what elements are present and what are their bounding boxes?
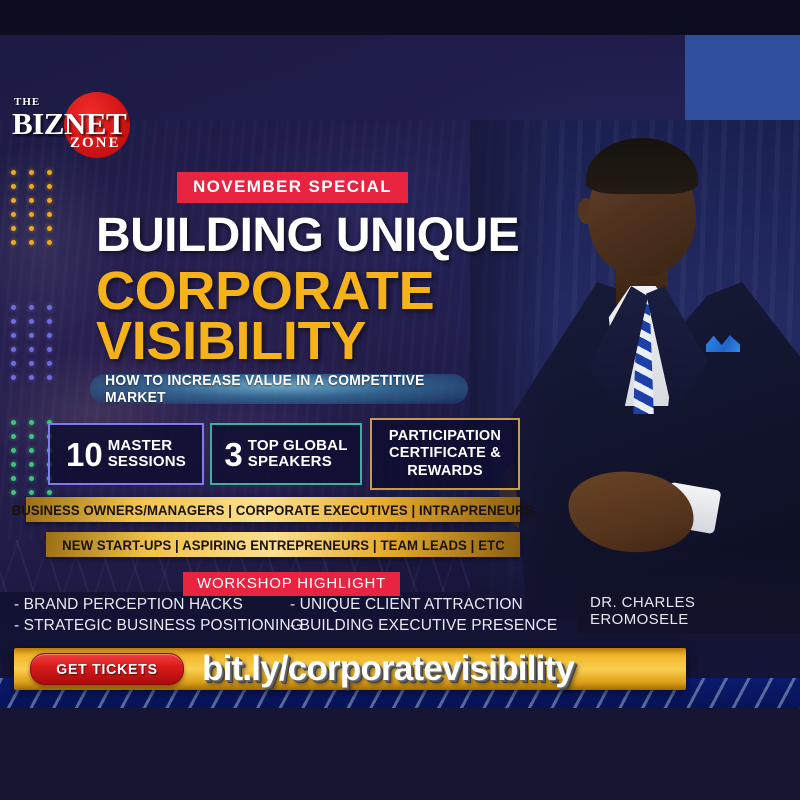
feature-number-sessions: 10	[66, 438, 103, 471]
feature-sessions-line2: SESSIONS	[108, 453, 186, 470]
logo-zone-text: ZONE	[70, 135, 121, 152]
decorative-dot-grid-purple	[11, 305, 52, 380]
brand-logo[interactable]: THE BIZNET ZONE	[8, 88, 138, 160]
top-band	[0, 0, 800, 35]
flyer-canvas: THE BIZNET ZONE NOVEMBER SPECIAL BUILDIN…	[0, 0, 800, 800]
workshop-item-2: - UNIQUE CLIENT ATTRACTION	[290, 596, 523, 614]
feature-speakers-line1: TOP GLOBAL	[248, 437, 348, 454]
headline-line-3: VISIBILITY	[96, 314, 366, 368]
feature-box-master-sessions: 10 MASTER SESSIONS	[48, 423, 204, 485]
workshop-item-1: - BRAND PERCEPTION HACKS	[14, 596, 290, 614]
ticket-url-link[interactable]: bit.ly/corporatevisibility	[202, 649, 574, 689]
decorative-dot-grid-green	[11, 420, 52, 495]
workshop-item-3: - STRATEGIC BUSINESS POSITIONING	[14, 617, 290, 635]
feature-speakers-line2: SPEAKERS	[248, 453, 332, 470]
workshop-item-4: - BUILDING EXECUTIVE PRESENCE	[290, 617, 557, 635]
subtitle-pill: HOW TO INCREASE VALUE IN A COMPETITIVE M…	[90, 374, 468, 404]
feature-label-sessions: MASTER SESSIONS	[108, 438, 186, 470]
feature-label-certificate: PARTICIPATION CERTIFICATE & REWARDS	[372, 428, 518, 479]
decorative-dot-grid-gold	[11, 170, 52, 245]
subtitle-text: HOW TO INCREASE VALUE IN A COMPETITIVE M…	[105, 372, 453, 406]
workshop-highlight-list: - BRAND PERCEPTION HACKS - UNIQUE CLIENT…	[14, 596, 554, 638]
headline-line-1: BUILDING UNIQUE	[96, 212, 519, 260]
call-to-action-bar: GET TICKETS bit.ly/corporatevisibility	[14, 648, 686, 690]
feature-label-speakers: TOP GLOBAL SPEAKERS	[248, 438, 348, 470]
speaker-name-label: DR. CHARLES EROMOSELE	[578, 590, 800, 633]
audience-text-row-1: BUSINESS OWNERS/MANAGERS | CORPORATE EXE…	[12, 502, 534, 518]
headline-line-2: CORPORATE	[96, 264, 434, 318]
footer-panel	[0, 708, 800, 800]
audience-bar-row-1: BUSINESS OWNERS/MANAGERS | CORPORATE EXE…	[26, 497, 520, 522]
workshop-highlight-badge: WORKSHOP HIGHLIGHT	[183, 572, 400, 596]
get-tickets-label: GET TICKETS	[56, 661, 158, 678]
get-tickets-button[interactable]: GET TICKETS	[30, 653, 184, 685]
feature-sessions-line1: MASTER	[108, 437, 173, 454]
feature-number-speakers: 3	[224, 438, 242, 471]
audience-text-row-2: NEW START-UPS | ASPIRING ENTREPRENEURS |…	[62, 537, 505, 553]
audience-bar-row-2: NEW START-UPS | ASPIRING ENTREPRENEURS |…	[46, 532, 520, 557]
workshop-row-1: - BRAND PERCEPTION HACKS - UNIQUE CLIENT…	[14, 596, 554, 614]
november-special-badge: NOVEMBER SPECIAL	[177, 172, 408, 203]
feature-box-speakers: 3 TOP GLOBAL SPEAKERS	[210, 423, 362, 485]
workshop-row-2: - STRATEGIC BUSINESS POSITIONING - BUILD…	[14, 617, 554, 635]
feature-box-certificate: PARTICIPATION CERTIFICATE & REWARDS	[370, 418, 520, 490]
